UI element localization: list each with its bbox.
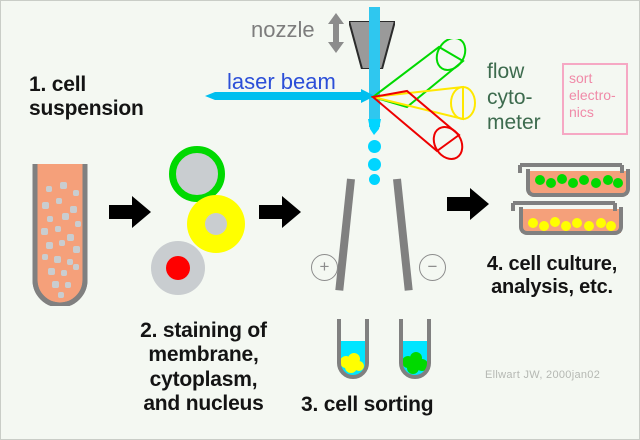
arrow-3-to-4 bbox=[447, 187, 489, 221]
step-4-label-line1: 4. cell culture, bbox=[468, 253, 636, 276]
culture-flask-yellow bbox=[511, 201, 631, 235]
deflection-plate-positive bbox=[335, 179, 355, 291]
laser-beam-arrow bbox=[205, 89, 375, 103]
yellow-detector-cone bbox=[373, 87, 475, 119]
diagram-canvas: 1. cell suspension bbox=[0, 0, 640, 440]
nucleus-cell-core bbox=[166, 256, 190, 280]
membrane-stained-cell bbox=[169, 146, 225, 202]
cytoplasm-cell-core bbox=[205, 213, 227, 235]
collection-tube-yellow bbox=[335, 319, 371, 381]
sort-electronics-line3: nics bbox=[569, 104, 616, 121]
arrow-2-to-3 bbox=[259, 195, 301, 229]
flow-cytometer-line3: meter bbox=[487, 110, 541, 136]
step-1-label-line1: 1. cell bbox=[29, 73, 144, 97]
charge-positive-icon: + bbox=[311, 254, 338, 281]
sort-electronics-line2: electro- bbox=[569, 87, 616, 104]
detector-cones bbox=[367, 39, 497, 169]
nucleus-stained-cell bbox=[151, 241, 205, 295]
step-2-label-line3: cytoplasm, bbox=[101, 368, 306, 392]
step-4-label-line2: analysis, etc. bbox=[468, 276, 636, 299]
nozzle-label: nozzle bbox=[251, 17, 315, 43]
flow-cytometer-line1: flow bbox=[487, 59, 541, 85]
step-2-label-line2: membrane, bbox=[101, 343, 306, 367]
sort-electronics-line1: sort bbox=[569, 70, 616, 87]
cytoplasm-stained-cell bbox=[187, 195, 245, 253]
culture-flask-green bbox=[518, 163, 638, 197]
step-2-label-line1: 2. staining of bbox=[101, 319, 306, 343]
nozzle-updown-arrow-icon bbox=[327, 13, 345, 53]
step-2-label: 2. staining of membrane, cytoplasm, and … bbox=[101, 319, 306, 416]
step-3-label: 3. cell sorting bbox=[301, 393, 433, 417]
deflection-plate-negative bbox=[393, 179, 413, 291]
sort-electronics-box: sort electro- nics bbox=[562, 63, 628, 135]
step-2-label-line4: and nucleus bbox=[101, 392, 306, 416]
flow-cytometer-line2: cyto- bbox=[487, 85, 541, 111]
credit-text: Ellwart JW, 2000jan02 bbox=[485, 369, 600, 381]
collection-tube-green bbox=[397, 319, 433, 381]
droplet-3 bbox=[369, 174, 380, 185]
step-4-label: 4. cell culture, analysis, etc. bbox=[468, 253, 636, 299]
charge-negative-icon: − bbox=[419, 254, 446, 281]
flow-cytometer-label: flow cyto- meter bbox=[487, 59, 541, 136]
cell-suspension-tube bbox=[29, 164, 91, 306]
green-detector-cone bbox=[373, 39, 471, 107]
step-1-label-line2: suspension bbox=[29, 97, 144, 121]
arrow-1-to-2 bbox=[109, 195, 151, 229]
step-1-label: 1. cell suspension bbox=[29, 73, 144, 122]
